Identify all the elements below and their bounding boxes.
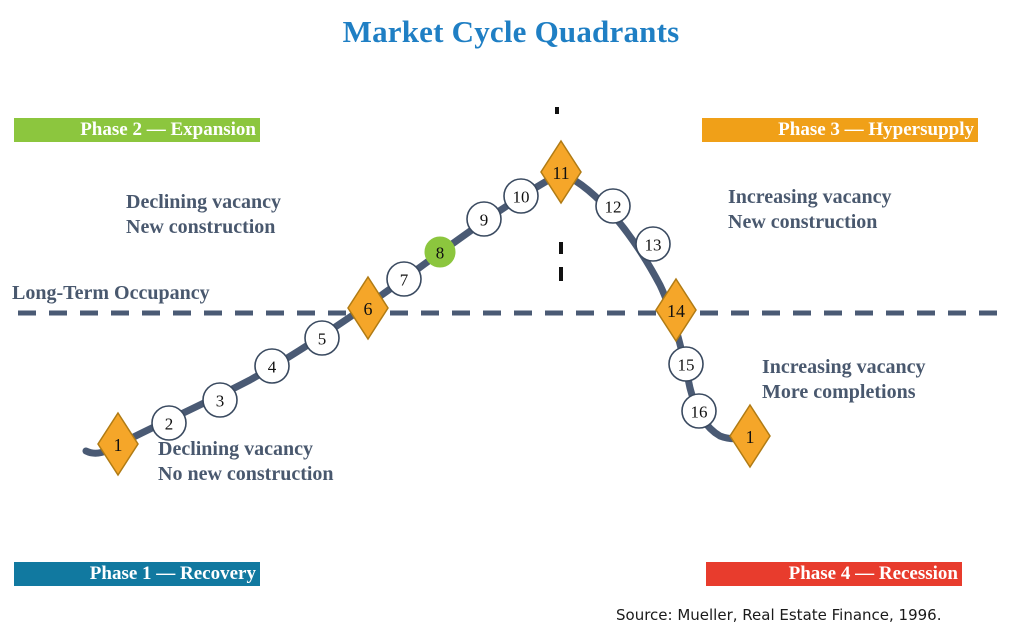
- source-citation: Source: Mueller, Real Estate Finance, 19…: [616, 606, 942, 624]
- cycle-circle-2-1[interactable]: 2: [152, 406, 186, 440]
- banner-phase-2-expansion[interactable]: Phase 2 — Expansion: [14, 118, 260, 142]
- quadrant-3-line-2: New construction: [728, 210, 892, 235]
- cycle-point-label: 14: [667, 301, 685, 321]
- cycle-circle-7-6[interactable]: 7: [387, 262, 421, 296]
- cycle-diamond-1-0[interactable]: 1: [98, 413, 138, 475]
- cycle-circle-5-4[interactable]: 5: [305, 321, 339, 355]
- cycle-diamond-11-10[interactable]: 11: [541, 141, 581, 203]
- cycle-point-label: 11: [552, 163, 569, 183]
- cycle-circle-8-7[interactable]: 8: [425, 237, 455, 267]
- stray-tick-mid-upper: [559, 242, 563, 254]
- cycle-circle-10-9[interactable]: 10: [504, 179, 538, 213]
- cycle-point-label: 1: [746, 427, 755, 447]
- banner-phase-4-recession[interactable]: Phase 4 — Recession: [706, 562, 962, 586]
- quadrant-4-description: Increasing vacancy More completions: [762, 355, 926, 405]
- cycle-point-label: 4: [268, 358, 277, 377]
- stray-tick-top: [555, 107, 559, 114]
- cycle-point-label: 8: [436, 244, 445, 263]
- long-term-occupancy-label: Long-Term Occupancy: [12, 282, 210, 305]
- quadrant-3-description: Increasing vacancy New construction: [728, 185, 892, 235]
- cycle-point-label: 9: [480, 211, 489, 230]
- quadrant-3-line-1: Increasing vacancy: [728, 185, 892, 210]
- cycle-point-label: 7: [400, 271, 409, 290]
- banner-phase-1-recovery[interactable]: Phase 1 — Recovery: [14, 562, 260, 586]
- quadrant-1-line-1: Declining vacancy: [158, 437, 334, 462]
- quadrant-1-description: Declining vacancy No new construction: [158, 437, 334, 487]
- cycle-point-label: 6: [364, 299, 373, 319]
- stray-tick-mid-lower: [559, 267, 563, 281]
- cycle-point-label: 1: [114, 435, 123, 455]
- cycle-curve-svg: 123456789101112131415161: [0, 0, 1022, 631]
- quadrant-2-description: Declining vacancy New construction: [126, 190, 281, 240]
- cycle-circle-15-14[interactable]: 15: [669, 347, 703, 381]
- cycle-diamond-1-16[interactable]: 1: [730, 405, 770, 467]
- quadrant-2-line-1: Declining vacancy: [126, 190, 281, 215]
- cycle-point-label: 2: [165, 415, 174, 434]
- cycle-circle-9-8[interactable]: 9: [467, 202, 501, 236]
- cycle-point-label: 12: [605, 198, 622, 217]
- cycle-circle-12-11[interactable]: 12: [596, 189, 630, 223]
- cycle-diamond-6-5[interactable]: 6: [348, 277, 388, 339]
- cycle-point-label: 13: [645, 236, 662, 255]
- quadrant-4-line-2: More completions: [762, 380, 926, 405]
- banner-phase-3-hypersupply[interactable]: Phase 3 — Hypersupply: [702, 118, 978, 142]
- cycle-point-label: 5: [318, 330, 327, 349]
- cycle-circle-4-3[interactable]: 4: [255, 349, 289, 383]
- page-title: Market Cycle Quadrants: [0, 14, 1022, 50]
- cycle-circle-16-15[interactable]: 16: [682, 394, 716, 428]
- cycle-circle-3-2[interactable]: 3: [203, 383, 237, 417]
- market-cycle-diagram: Market Cycle Quadrants 12345678910111213…: [0, 0, 1022, 631]
- cycle-point-label: 15: [678, 356, 695, 375]
- quadrant-1-line-2: No new construction: [158, 462, 334, 487]
- cycle-point-label: 16: [691, 403, 708, 422]
- quadrant-2-line-2: New construction: [126, 215, 281, 240]
- cycle-point-label: 10: [513, 188, 530, 207]
- cycle-circle-13-12[interactable]: 13: [636, 227, 670, 261]
- quadrant-4-line-1: Increasing vacancy: [762, 355, 926, 380]
- cycle-point-label: 3: [216, 392, 225, 411]
